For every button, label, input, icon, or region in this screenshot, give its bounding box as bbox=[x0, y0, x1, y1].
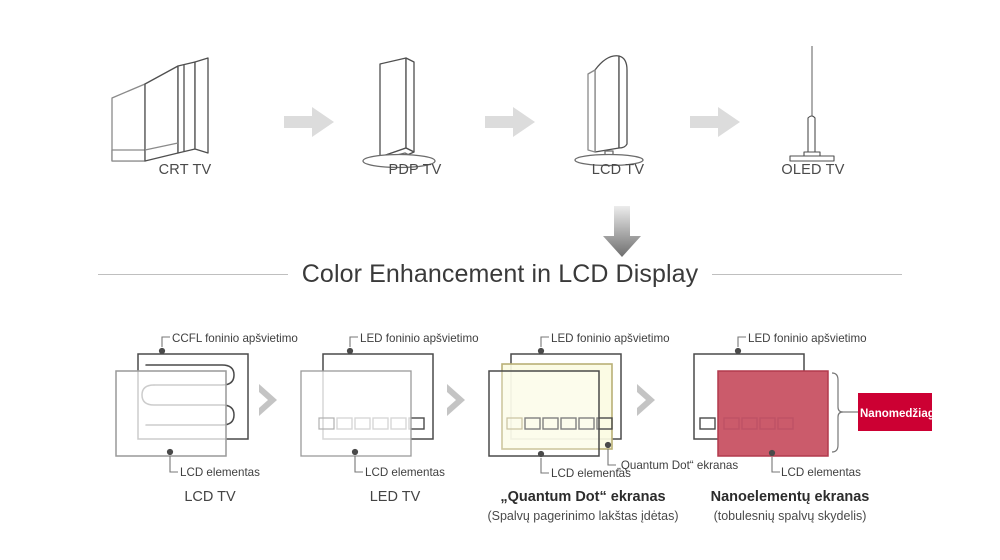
evolution-item-lcd: LCD TV bbox=[533, 40, 703, 190]
evolution-label-lcd: LCD TV bbox=[533, 162, 703, 178]
lcd-tv-illustration bbox=[533, 40, 703, 165]
callout-top-label: LED foninio apšvietimo bbox=[551, 332, 670, 345]
title-rule-right bbox=[712, 274, 902, 275]
evolution-item-crt: CRT TV bbox=[100, 40, 270, 190]
pdp-tv-illustration bbox=[330, 40, 500, 165]
callout-bottom-label: LCD elementas bbox=[781, 466, 861, 479]
callout-bottom-label: LCD elementas bbox=[180, 466, 260, 479]
callout-top-label: LED foninio apšvietimo bbox=[748, 332, 867, 345]
right-arrow-icon-1 bbox=[284, 105, 336, 139]
panel-subtitle-nanocell: (tobulesnių spalvų skydelis) bbox=[660, 509, 920, 523]
nanocell-illustration: LED foninio apšvietimo bbox=[680, 325, 880, 490]
section-title-band: Color Enhancement in LCD Display bbox=[0, 256, 1000, 292]
panel-group-lcd-tv: CCFL foninio apšvietimo LCD elementas LC… bbox=[110, 325, 310, 555]
panel-title-quantum-dot: „Quantum Dot“ ekranas bbox=[463, 489, 703, 505]
page-title: Color Enhancement in LCD Display bbox=[302, 260, 698, 289]
callout-top-label: LED foninio apšvietimo bbox=[360, 332, 479, 345]
callout-bottom-label: LCD elementas bbox=[365, 466, 445, 479]
callout-top-label: CCFL foninio apšvietimo bbox=[172, 332, 298, 345]
right-arrow-icon-2 bbox=[485, 105, 537, 139]
callout-bottom-label: LCD elementas bbox=[551, 467, 631, 480]
nanomaterial-badge-label: Nanomedžiaga bbox=[860, 408, 942, 420]
oled-tv-illustration bbox=[728, 40, 898, 165]
panel-group-quantum-dot: LED foninio apšvietimo bbox=[483, 325, 683, 555]
evolution-item-pdp: PDP TV bbox=[330, 40, 500, 190]
evolution-label-pdp: PDP TV bbox=[330, 162, 500, 178]
chevron-right-icon-2 bbox=[443, 382, 473, 418]
chevron-right-icon-1 bbox=[255, 382, 285, 418]
chevron-right-icon-3 bbox=[633, 382, 663, 418]
crt-tv-illustration bbox=[100, 40, 270, 165]
panel-group-nanocell: LED foninio apšvietimo bbox=[680, 325, 880, 555]
title-rule-left bbox=[98, 274, 288, 275]
evolution-item-oled: OLED TV bbox=[728, 40, 898, 190]
evolution-label-crt: CRT TV bbox=[100, 162, 270, 178]
infographic-canvas: CRT TV PDP TV bbox=[0, 0, 1000, 560]
evolution-label-oled: OLED TV bbox=[728, 162, 898, 178]
panel-title-nanocell: Nanoelementų ekranas bbox=[670, 489, 910, 505]
down-arrow-icon bbox=[600, 206, 644, 258]
